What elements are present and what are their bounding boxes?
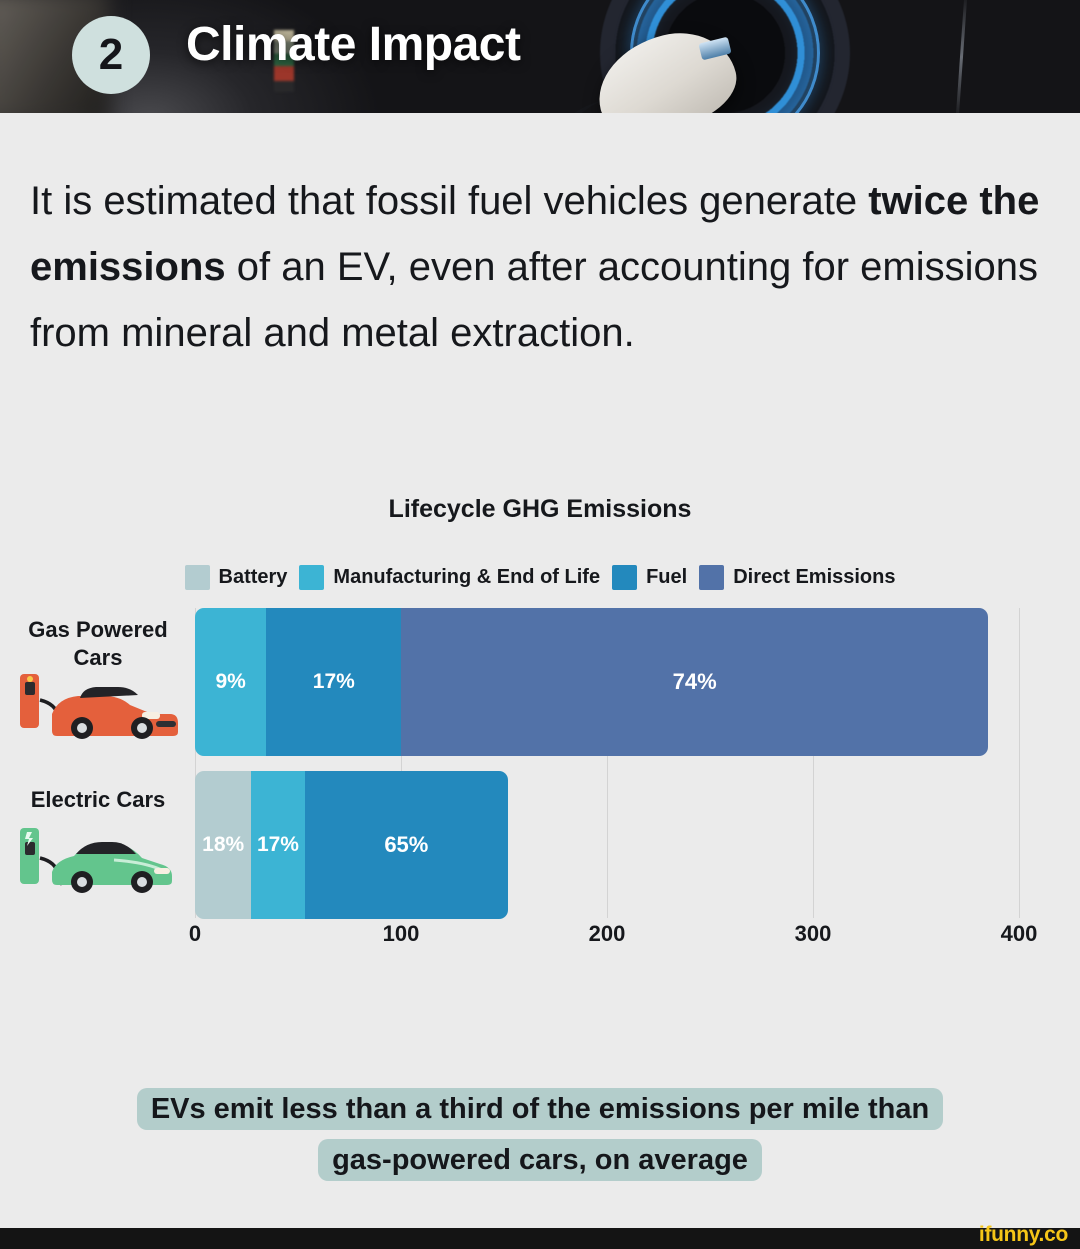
legend-item: Battery bbox=[185, 565, 288, 590]
hero-car-body bbox=[0, 0, 1080, 113]
caption-line-2: gas-powered cars, on average bbox=[318, 1139, 762, 1181]
bar-segment[interactable]: 65% bbox=[305, 771, 509, 919]
bar-segment[interactable]: 18% bbox=[195, 771, 251, 919]
legend-item: Direct Emissions bbox=[699, 565, 895, 590]
legend-item: Fuel bbox=[612, 565, 687, 590]
orange-suv-charging-icon bbox=[14, 660, 184, 740]
chart-title: Lifecycle GHG Emissions bbox=[0, 495, 1080, 524]
legend-swatch-icon bbox=[612, 565, 637, 590]
legend-label: Manufacturing & End of Life bbox=[333, 566, 600, 589]
x-axis-tick-label: 300 bbox=[795, 921, 832, 947]
stacked-bar[interactable]: 9%17%74% bbox=[195, 608, 988, 756]
legend-swatch-icon bbox=[699, 565, 724, 590]
bar-segment[interactable]: 74% bbox=[401, 608, 988, 756]
chart-category-label: Electric Cars bbox=[8, 786, 188, 814]
x-axis-tick-label: 100 bbox=[383, 921, 420, 947]
page-title: Climate Impact bbox=[186, 17, 520, 72]
green-sedan-charging-icon bbox=[14, 816, 184, 896]
x-axis-tick-label: 0 bbox=[189, 921, 201, 947]
legend-item: Manufacturing & End of Life bbox=[299, 565, 600, 590]
lede-part-1: It is estimated that fossil fuel vehicle… bbox=[30, 179, 868, 223]
stacked-bar[interactable]: 18%17%65% bbox=[195, 771, 508, 919]
page-root: 2 Climate Impact It is estimated that fo… bbox=[0, 0, 1080, 1249]
hero-photo bbox=[0, 0, 1080, 113]
lede-paragraph: It is estimated that fossil fuel vehicle… bbox=[30, 168, 1040, 366]
chart-plot-area: 9%17%74%18%17%65% bbox=[195, 608, 1019, 921]
chart-x-axis: 0100200300400 bbox=[195, 921, 1019, 955]
x-axis-tick-label: 200 bbox=[589, 921, 626, 947]
chart-region: Lifecycle GHG Emissions BatteryManufactu… bbox=[0, 495, 1080, 945]
bar-segment[interactable]: 17% bbox=[266, 608, 401, 756]
legend-label: Direct Emissions bbox=[733, 566, 895, 589]
hero-banner: 2 Climate Impact bbox=[0, 0, 1080, 113]
caption-line-1: EVs emit less than a third of the emissi… bbox=[137, 1088, 943, 1130]
x-axis-tick-label: 400 bbox=[1001, 921, 1038, 947]
legend-swatch-icon bbox=[299, 565, 324, 590]
bar-segment[interactable]: 17% bbox=[251, 771, 304, 919]
legend-label: Battery bbox=[219, 566, 288, 589]
ifunny-watermark: ifunny.co bbox=[979, 1223, 1068, 1247]
chart-bar-row: 18%17%65% bbox=[195, 771, 1019, 919]
chart-gridline bbox=[1019, 608, 1020, 918]
footer-bar: ifunny.co bbox=[0, 1228, 1080, 1249]
bar-segment[interactable]: 9% bbox=[195, 608, 266, 756]
legend-swatch-icon bbox=[185, 565, 210, 590]
legend-label: Fuel bbox=[646, 566, 687, 589]
chart-legend: BatteryManufacturing & End of LifeFuelDi… bbox=[0, 565, 1080, 590]
section-number-badge: 2 bbox=[72, 16, 150, 94]
chart-bar-row: 9%17%74% bbox=[195, 608, 1019, 756]
summary-caption: EVs emit less than a third of the emissi… bbox=[0, 1086, 1080, 1188]
